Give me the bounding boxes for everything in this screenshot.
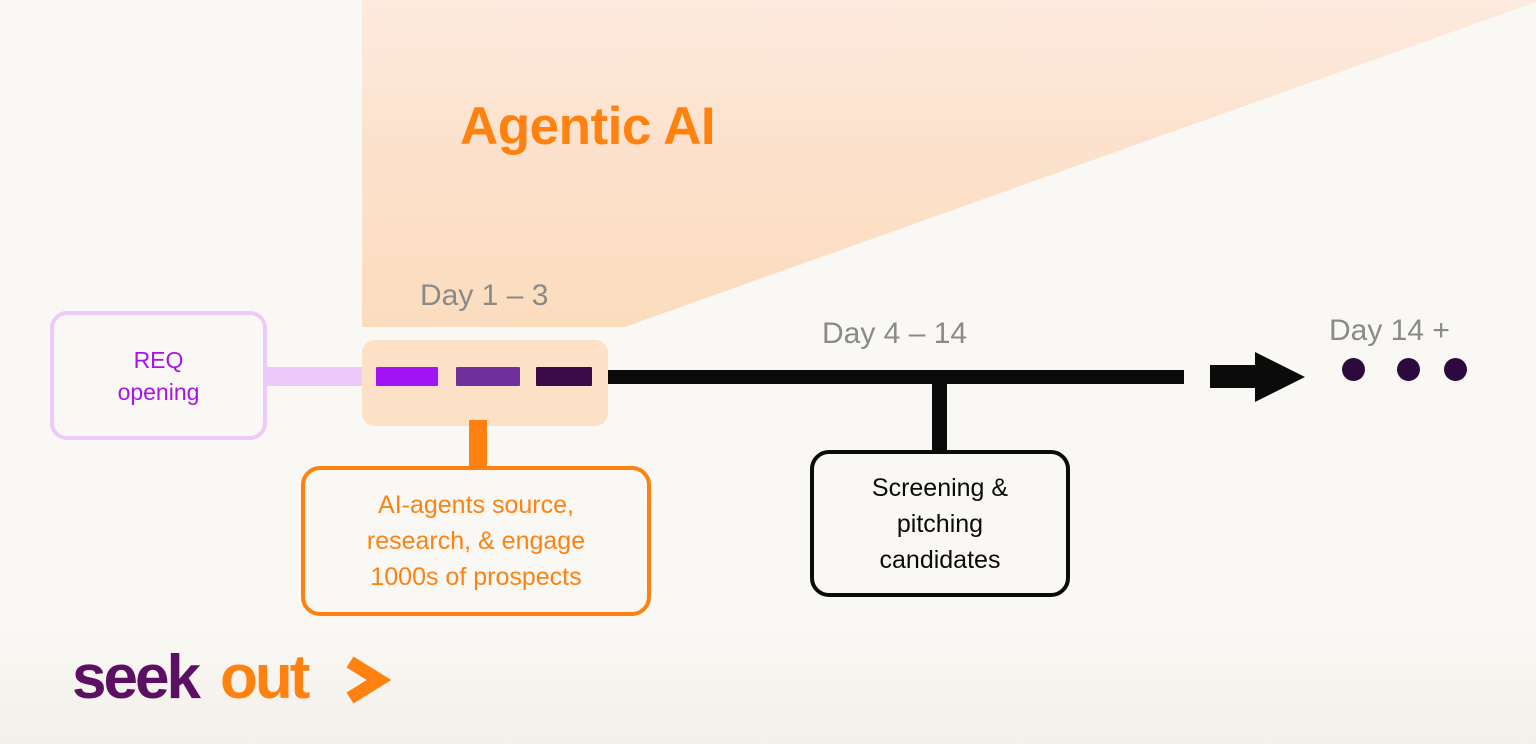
timeline-segment-bright: [376, 367, 438, 386]
day-label-3: Day 14 +: [1329, 314, 1450, 348]
agentic-callout-box[interactable]: AI-agents source, research, & engage 100…: [301, 466, 651, 616]
agentic-callout-stem: [469, 420, 487, 470]
agentic-callout-label: AI-agents source, research, & engage 100…: [367, 487, 585, 595]
logo-chevron-icon: [350, 662, 379, 698]
logo-text-out: out: [220, 648, 310, 710]
req-connector: [265, 367, 373, 386]
timeline-dot: [1444, 358, 1467, 381]
req-opening-box[interactable]: REQ opening: [50, 311, 267, 440]
day-label-2: Day 4 – 14: [822, 317, 967, 351]
slide-canvas: Agentic AI REQ opening Day 1 – 3 Day 4 –…: [0, 0, 1536, 744]
page-title: Agentic AI: [460, 96, 715, 157]
timeline-dot: [1397, 358, 1420, 381]
screening-callout-box[interactable]: Screening & pitching candidates: [810, 450, 1070, 597]
screening-callout-label: Screening & pitching candidates: [872, 470, 1008, 578]
timeline-dot: [1342, 358, 1365, 381]
seekout-logo[interactable]: seek out: [72, 648, 412, 710]
timeline-bar: [608, 370, 1184, 384]
timeline-segment-medium: [456, 367, 520, 386]
day-label-1: Day 1 – 3: [420, 279, 548, 313]
timeline-arrow-icon: [1255, 352, 1305, 402]
timeline-segment-dark: [536, 367, 592, 386]
logo-text-seek: seek: [72, 648, 201, 710]
req-opening-label: REQ opening: [118, 344, 200, 408]
timeline-stem-screening: [932, 378, 947, 453]
